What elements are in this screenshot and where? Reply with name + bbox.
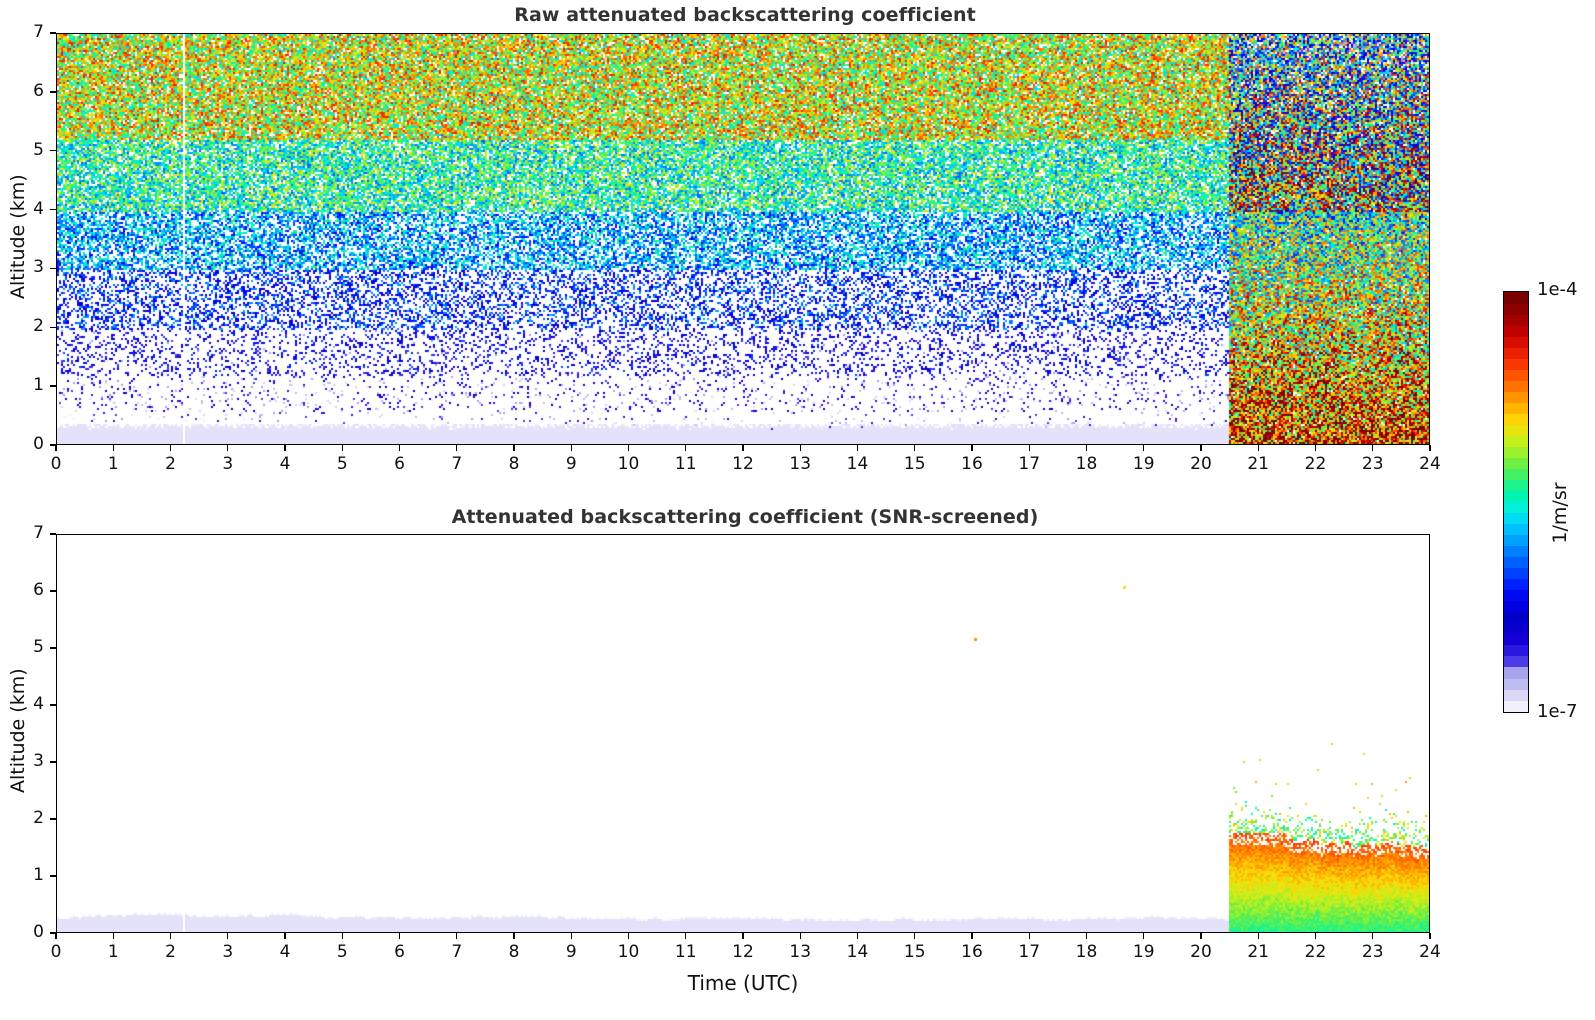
x-tick-label: 6 xyxy=(370,942,430,962)
x-tick-mark xyxy=(1143,933,1144,939)
x-tick-mark xyxy=(800,933,801,939)
y-tick-mark xyxy=(50,385,56,386)
colorbar-band xyxy=(1504,568,1528,580)
colorbar-band xyxy=(1504,656,1528,668)
x-tick-label: 3 xyxy=(198,454,258,474)
y-tick-mark xyxy=(50,91,56,92)
x-tick-label: 7 xyxy=(427,454,487,474)
x-tick-mark xyxy=(971,445,972,451)
x-tick-label: 16 xyxy=(942,454,1002,474)
x-tick-mark xyxy=(1429,933,1430,939)
y-tick-mark xyxy=(50,150,56,151)
x-tick-mark xyxy=(685,445,686,451)
colorbar-band xyxy=(1504,535,1528,547)
heatmap-pixels xyxy=(57,535,1430,933)
x-tick-label: 0 xyxy=(26,942,86,962)
y-tick-label: 6 xyxy=(4,81,44,101)
x-tick-label: 4 xyxy=(255,942,315,962)
y-tick-label: 1 xyxy=(4,375,44,395)
x-tick-mark xyxy=(342,445,343,451)
x-tick-label: 17 xyxy=(999,454,1059,474)
x-tick-mark xyxy=(1029,445,1030,451)
x-tick-mark xyxy=(1372,445,1373,451)
x-tick-label: 19 xyxy=(1114,942,1174,962)
colorbar-band xyxy=(1504,358,1528,370)
x-tick-mark xyxy=(571,933,572,939)
colorbar-band xyxy=(1504,479,1528,491)
colorbar-max-label: 1e-4 xyxy=(1537,279,1577,300)
y-tick-mark xyxy=(50,32,56,33)
colorbar-band xyxy=(1504,601,1528,613)
colorbar-band xyxy=(1504,347,1528,359)
x-tick-label: 0 xyxy=(26,454,86,474)
y-tick-label: 1 xyxy=(4,865,44,885)
y-tick-label: 0 xyxy=(4,922,44,942)
x-tick-mark xyxy=(399,445,400,451)
x-tick-mark xyxy=(284,933,285,939)
x-tick-mark xyxy=(1086,445,1087,451)
colorbar-band xyxy=(1504,424,1528,436)
x-tick-mark xyxy=(170,445,171,451)
x-tick-mark xyxy=(742,933,743,939)
x-tick-label: 14 xyxy=(828,942,888,962)
colorbar-band xyxy=(1504,446,1528,458)
y-tick-mark xyxy=(50,444,56,445)
x-tick-mark xyxy=(1200,445,1201,451)
x-tick-mark xyxy=(1143,445,1144,451)
x-tick-label: 20 xyxy=(1171,454,1231,474)
x-tick-label: 6 xyxy=(370,454,430,474)
x-tick-mark xyxy=(1086,933,1087,939)
x-tick-mark xyxy=(914,445,915,451)
x-tick-label: 1 xyxy=(83,454,143,474)
x-tick-mark xyxy=(628,445,629,451)
x-tick-label: 21 xyxy=(1228,454,1288,474)
colorbar-title: 1/m/sr xyxy=(1549,453,1571,573)
x-tick-mark xyxy=(513,933,514,939)
x-tick-mark xyxy=(857,445,858,451)
colorbar-band xyxy=(1504,402,1528,414)
x-tick-label: 23 xyxy=(1343,942,1403,962)
colorbar-band xyxy=(1504,502,1528,514)
x-tick-mark xyxy=(1258,933,1259,939)
x-tick-mark xyxy=(55,445,56,451)
y-tick-mark xyxy=(50,818,56,819)
x-tick-mark xyxy=(1429,445,1430,451)
x-tick-mark xyxy=(284,445,285,451)
colorbar-band xyxy=(1504,590,1528,602)
x-tick-label: 12 xyxy=(713,942,773,962)
colorbar-band xyxy=(1504,689,1528,701)
x-tick-label: 13 xyxy=(770,942,830,962)
colorbar-band xyxy=(1504,457,1528,469)
colorbar-band xyxy=(1504,634,1528,646)
x-tick-label: 5 xyxy=(312,454,372,474)
x-tick-label: 8 xyxy=(484,942,544,962)
y-tick-mark xyxy=(50,268,56,269)
x-tick-mark xyxy=(55,933,56,939)
colorbar-band xyxy=(1504,623,1528,635)
y-tick-mark xyxy=(50,590,56,591)
x-tick-mark xyxy=(227,933,228,939)
x-tick-label: 13 xyxy=(770,454,830,474)
x-tick-mark xyxy=(800,445,801,451)
x-tick-mark xyxy=(742,445,743,451)
x-tick-label: 9 xyxy=(541,454,601,474)
x-tick-mark xyxy=(170,933,171,939)
x-tick-label: 1 xyxy=(83,942,143,962)
y-tick-label: 7 xyxy=(4,22,44,42)
x-tick-label: 14 xyxy=(828,454,888,474)
colorbar-band xyxy=(1504,369,1528,381)
lidar-quicklook-figure: Raw attenuated backscattering coefficien… xyxy=(0,0,1595,1020)
colorbar-band xyxy=(1504,513,1528,525)
x-tick-label: 2 xyxy=(141,942,201,962)
x-tick-label: 7 xyxy=(427,942,487,962)
x-tick-label: 21 xyxy=(1228,942,1288,962)
x-tick-mark xyxy=(342,933,343,939)
colorbar-band xyxy=(1504,380,1528,392)
x-tick-label: 4 xyxy=(255,454,315,474)
y-tick-label: 5 xyxy=(4,637,44,657)
x-tick-label: 11 xyxy=(656,454,716,474)
colorbar-band xyxy=(1504,314,1528,326)
x-tick-label: 3 xyxy=(198,942,258,962)
x-tick-label: 18 xyxy=(1057,454,1117,474)
x-tick-label: 24 xyxy=(1400,942,1460,962)
colorbar-min-label: 1e-7 xyxy=(1537,701,1577,722)
x-tick-mark xyxy=(227,445,228,451)
x-tick-mark xyxy=(914,933,915,939)
x-tick-label: 22 xyxy=(1286,942,1346,962)
x-tick-label: 12 xyxy=(713,454,773,474)
y-tick-label: 6 xyxy=(4,580,44,600)
heatmap-pixels xyxy=(57,34,1430,445)
x-tick-mark xyxy=(571,445,572,451)
raw-y-axis-label: Altitude (km) xyxy=(7,179,29,299)
x-tick-label: 20 xyxy=(1171,942,1231,962)
colorbar-band xyxy=(1504,303,1528,315)
y-tick-label: 7 xyxy=(4,523,44,543)
colorbar-band xyxy=(1504,391,1528,403)
x-tick-mark xyxy=(685,933,686,939)
x-tick-mark xyxy=(399,933,400,939)
colorbar-band xyxy=(1504,645,1528,657)
y-tick-mark xyxy=(50,533,56,534)
x-tick-label: 10 xyxy=(599,454,659,474)
colorbar-band xyxy=(1504,612,1528,624)
colorbar-band xyxy=(1504,490,1528,502)
x-tick-mark xyxy=(1315,933,1316,939)
x-tick-label: 16 xyxy=(942,942,1002,962)
x-tick-mark xyxy=(1372,933,1373,939)
x-tick-label: 19 xyxy=(1114,454,1174,474)
panel-title-screened: Attenuated backscattering coefficient (S… xyxy=(0,506,1490,528)
x-tick-mark xyxy=(1029,933,1030,939)
y-tick-mark xyxy=(50,875,56,876)
x-tick-mark xyxy=(456,933,457,939)
y-tick-label: 5 xyxy=(4,140,44,160)
y-tick-mark xyxy=(50,932,56,933)
x-tick-mark xyxy=(113,445,114,451)
x-tick-label: 18 xyxy=(1057,942,1117,962)
x-tick-label: 5 xyxy=(312,942,372,962)
y-tick-label: 2 xyxy=(4,808,44,828)
x-tick-mark xyxy=(971,933,972,939)
x-tick-mark xyxy=(456,445,457,451)
colorbar-band xyxy=(1504,700,1528,712)
x-tick-mark xyxy=(628,933,629,939)
colorbar-band xyxy=(1504,336,1528,348)
colorbar-band xyxy=(1504,325,1528,337)
x-tick-mark xyxy=(513,445,514,451)
x-tick-label: 22 xyxy=(1286,454,1346,474)
colorbar-band xyxy=(1504,468,1528,480)
y-tick-mark xyxy=(50,704,56,705)
colorbar-band xyxy=(1504,557,1528,569)
colorbar-band xyxy=(1504,292,1528,304)
x-tick-label: 15 xyxy=(885,454,945,474)
colorbar-band xyxy=(1504,579,1528,591)
y-tick-mark xyxy=(50,327,56,328)
colorbar-band xyxy=(1504,435,1528,447)
x-tick-label: 23 xyxy=(1343,454,1403,474)
x-tick-label: 17 xyxy=(999,942,1059,962)
panel-title-raw: Raw attenuated backscattering coefficien… xyxy=(0,4,1490,26)
colorbar-band xyxy=(1504,667,1528,679)
colorbar xyxy=(1503,291,1529,713)
x-tick-label: 10 xyxy=(599,942,659,962)
y-tick-mark xyxy=(50,209,56,210)
colorbar-band xyxy=(1504,678,1528,690)
raw-backscatter-heatmap xyxy=(56,33,1430,445)
y-tick-label: 0 xyxy=(4,434,44,454)
x-tick-label: 8 xyxy=(484,454,544,474)
x-tick-label: 15 xyxy=(885,942,945,962)
x-tick-mark xyxy=(1258,445,1259,451)
x-tick-mark xyxy=(113,933,114,939)
x-tick-label: 24 xyxy=(1400,454,1460,474)
colorbar-band xyxy=(1504,413,1528,425)
x-tick-mark xyxy=(857,933,858,939)
x-tick-label: 2 xyxy=(141,454,201,474)
colorbar-band xyxy=(1504,524,1528,536)
y-tick-mark xyxy=(50,761,56,762)
screened-backscatter-heatmap xyxy=(56,534,1430,933)
time-axis-label: Time (UTC) xyxy=(56,971,1430,995)
x-tick-mark xyxy=(1315,445,1316,451)
y-tick-mark xyxy=(50,647,56,648)
colorbar-band xyxy=(1504,546,1528,558)
screened-y-axis-label: Altitude (km) xyxy=(7,673,29,793)
x-tick-label: 9 xyxy=(541,942,601,962)
x-tick-label: 11 xyxy=(656,942,716,962)
x-tick-mark xyxy=(1200,933,1201,939)
y-tick-label: 2 xyxy=(4,316,44,336)
